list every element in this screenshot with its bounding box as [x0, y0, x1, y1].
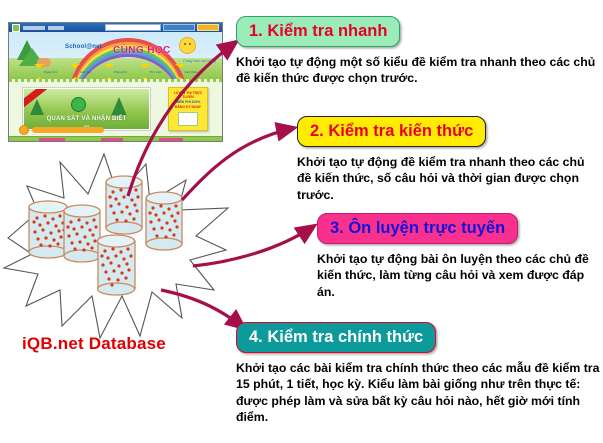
panel-3-title[interactable]: 3. Ôn luyện trực tuyến: [317, 213, 518, 244]
news-bar-label: [32, 127, 104, 133]
db-cylinder-2: [64, 205, 100, 262]
nav-star-1: Lớp học: [70, 60, 91, 78]
website-footer-strip: [9, 136, 222, 142]
panel-2-body: Khởi tạo tự động đề kiểm tra nhanh theo …: [297, 154, 597, 203]
db-cylinder-4: [146, 192, 182, 250]
news-bar: [19, 125, 104, 135]
site-headline: CÙNG HỌC: [113, 45, 171, 56]
nav-star-label-2: Phòng thi: [114, 70, 127, 74]
promo-thumbnail: [178, 112, 198, 126]
lesson-banner: QUAN SÁT VÀ NHẬN BIẾT ••••: [23, 88, 150, 130]
promo-line-1: LUYỆN THI TRỰC TUYẾN: [169, 91, 207, 99]
nav-star-label-3: Thư viện: [150, 70, 162, 74]
promo-card: LUYỆN THI TRỰC TUYẾN MIỄN PHÍ 100% ĐĂNG …: [168, 87, 208, 131]
site-brand-text: School@net: [65, 44, 102, 50]
menu-item-tro-giup: [48, 26, 64, 30]
tree-icon-3: [30, 99, 44, 115]
promo-line-2: MIỄN PHÍ 100%: [169, 100, 207, 104]
website-top-navbar: [9, 23, 222, 32]
register-button: [163, 24, 195, 31]
feature-panel-2[interactable]: 2. Kiểm tra kiến thức Khởi tạo tự động đ…: [297, 116, 597, 203]
panel-1-body: Khởi tạo tự động một số kiểu đề kiểm tra…: [236, 54, 596, 86]
panel-4-body: Khởi tạo các bài kiểm tra chính thức the…: [236, 360, 600, 425]
database-starburst-graphic: [0, 150, 235, 350]
star-icon: [104, 60, 114, 79]
nav-star-3: Thư viện: [140, 60, 162, 78]
lesson-banner-title: QUAN SÁT VÀ NHẬN BIẾT: [24, 116, 149, 122]
nav-star-label-1: Lớp học: [80, 70, 91, 74]
panel-3-body: Khởi tạo tự động bài ôn luyện theo các c…: [317, 251, 602, 300]
star-icon: [175, 60, 185, 79]
star-icon: [70, 60, 80, 79]
panel-1-title[interactable]: 1. Kiểm tra nhanh: [236, 16, 400, 47]
nav-star-label-0: Trang chủ: [44, 70, 57, 74]
panel-4-title[interactable]: 4. Kiểm tra chính thức: [236, 322, 436, 353]
menu-item-gioi-thieu: [23, 26, 45, 30]
search-input: [105, 24, 161, 31]
website-content-area: QUAN SÁT VÀ NHẬN BIẾT •••• LUYỆN THI TRỰ…: [9, 79, 222, 142]
feature-panel-4[interactable]: 4. Kiểm tra chính thức Khởi tạo các bài …: [236, 322, 600, 425]
sun-icon: [179, 37, 196, 54]
nav-star-2: Phòng thi: [104, 60, 127, 78]
feature-panel-1[interactable]: 1. Kiểm tra nhanh Khởi tạo tự động một s…: [236, 16, 596, 87]
mascot-icon: [71, 97, 86, 112]
database-label: iQB.net Database: [22, 334, 166, 354]
website-screenshot-thumbnail[interactable]: School@net CÙNG HỌC Cùng học vui cùng Tr…: [8, 22, 223, 142]
nav-star-0: Trang chủ: [34, 60, 57, 78]
feature-panel-3[interactable]: 3. Ôn luyện trực tuyến Khởi tạo tự động …: [317, 213, 602, 300]
star-icon: [140, 60, 150, 79]
star-icon: [34, 60, 44, 79]
nav-star-label-4: Giới thiệu: [185, 70, 198, 74]
db-cylinder-3: [106, 176, 142, 234]
login-button: [197, 24, 219, 31]
panel-2-title[interactable]: 2. Kiểm tra kiến thức: [297, 116, 486, 147]
db-cylinder-5: [98, 235, 136, 295]
website-hero-banner: School@net CÙNG HỌC Cùng học vui cùng Tr…: [9, 32, 222, 79]
tree-icon-4: [111, 97, 127, 116]
db-cylinder-1: [29, 201, 67, 258]
promo-line-3: ĐĂNG KÝ NGAY: [169, 105, 207, 109]
website-search-area: [105, 24, 219, 31]
nav-star-4: Giới thiệu: [175, 60, 198, 78]
site-logo-icon: [12, 24, 20, 32]
website-star-nav: Trang chủ Lớp học Phòng thi Thư viện Giớ…: [9, 60, 222, 78]
news-icon: [19, 125, 29, 135]
